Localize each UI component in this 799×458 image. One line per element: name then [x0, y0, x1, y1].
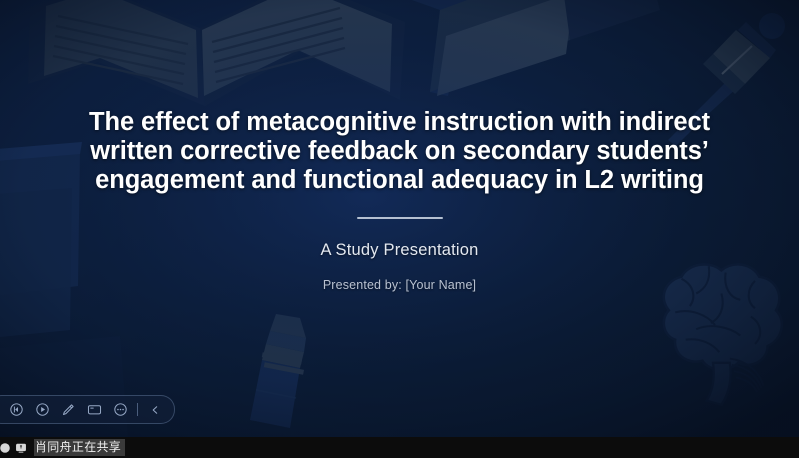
present-screen-icon[interactable] [81, 397, 107, 423]
collapse-toolbar-icon[interactable] [142, 397, 168, 423]
sharing-status-text: 肖同舟正在共享 [34, 439, 125, 456]
toolbar-divider [137, 403, 138, 416]
presentation-slide: The effect of metacognitive instruction … [0, 0, 799, 437]
pen-annotate-icon[interactable] [55, 397, 81, 423]
user-badge-icon[interactable] [0, 440, 13, 456]
screen-capture-window: The effect of metacognitive instruction … [0, 0, 799, 458]
slide-title: The effect of metacognitive instruction … [48, 108, 751, 195]
presentation-toolbar[interactable] [0, 395, 175, 424]
screen-share-status-bar: 肖同舟正在共享 [0, 437, 799, 458]
slide-presenter: Presented by: [Your Name] [323, 278, 476, 292]
title-divider [357, 217, 443, 219]
previous-slide-icon[interactable] [3, 397, 29, 423]
play-slide-icon[interactable] [29, 397, 55, 423]
more-options-icon[interactable] [107, 397, 133, 423]
slide-subtitle: A Study Presentation [320, 241, 478, 260]
screen-share-icon[interactable] [13, 440, 29, 456]
